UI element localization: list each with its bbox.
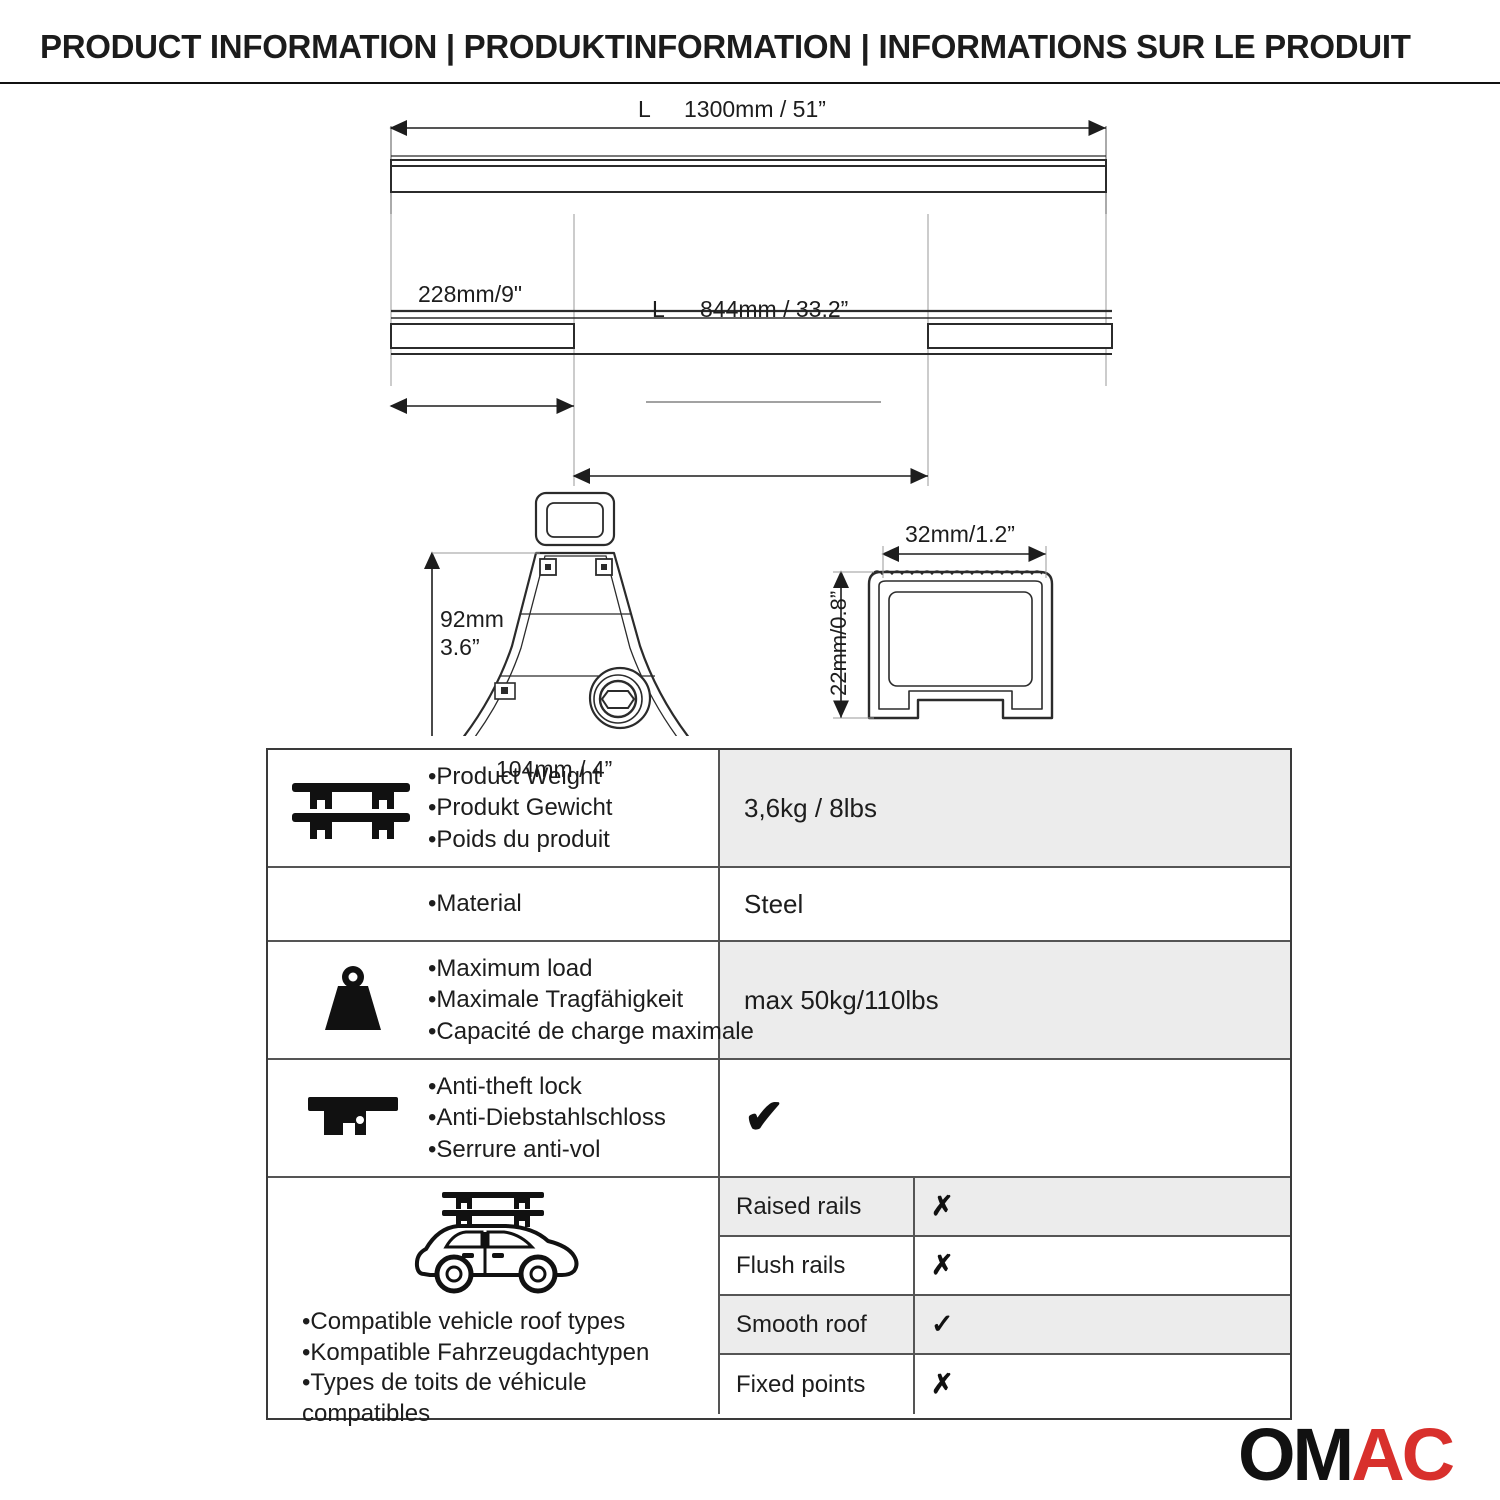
foot-height-mm: 92mm	[440, 606, 504, 633]
spec-label-cell: •Product Weight •Produkt Gewicht •Poids …	[268, 750, 720, 866]
roof-type-name: Flush rails	[720, 1237, 915, 1294]
table-row: •Product Weight •Produkt Gewicht •Poids …	[268, 750, 1290, 868]
spec-label-de: •Anti-Diebstahlschloss	[428, 1102, 666, 1133]
profile-width-dimension: 32mm/1.2”	[905, 521, 1015, 548]
spec-label-texts: •Maximum load •Maximale Tragfähigkeit •C…	[428, 953, 754, 1047]
spec-label-en: •Product Weight	[428, 761, 612, 792]
roof-type-row-raised-rails: Raised rails ✗	[720, 1178, 1290, 1237]
spec-label-texts: •Anti-theft lock •Anti-Diebstahlschloss …	[428, 1071, 666, 1165]
compat-label-fr-cont: compatibles	[302, 1399, 649, 1430]
spec-label-en: •Material	[428, 888, 522, 919]
spec-label-cell: •Material	[268, 868, 720, 940]
roof-type-list: Raised rails ✗ Flush rails ✗ Smooth roof…	[720, 1178, 1290, 1414]
compat-label-de: •Kompatible Fahrzeugdachtypen	[302, 1338, 649, 1369]
table-row: •Material Steel	[268, 868, 1290, 942]
roof-type-name: Raised rails	[720, 1178, 915, 1235]
table-row-compatibility: •Compatible vehicle roof types •Kompatib…	[268, 1178, 1290, 1414]
roof-type-mark: ✗	[915, 1237, 1290, 1294]
omac-logo: OM AC	[1238, 1418, 1452, 1492]
roof-type-row-flush-rails: Flush rails ✗	[720, 1237, 1290, 1296]
page-title: PRODUCT INFORMATION | PRODUKTINFORMATION…	[40, 28, 1411, 66]
spec-label-en: •Anti-theft lock	[428, 1071, 666, 1102]
table-row: •Anti-theft lock •Anti-Diebstahlschloss …	[268, 1060, 1290, 1178]
spec-value-material: Steel	[720, 868, 1290, 940]
roof-type-name: Fixed points	[720, 1355, 915, 1414]
foot-height-in: 3.6”	[440, 634, 480, 661]
drawing-svg	[0, 86, 1500, 736]
span-value: 844mm / 33.2”	[700, 296, 848, 323]
logo-text-black: OM	[1238, 1418, 1351, 1492]
roof-type-mark: ✓	[915, 1296, 1290, 1353]
lock-icon	[278, 1087, 428, 1149]
table-row: •Maximum load •Maximale Tragfähigkeit •C…	[268, 942, 1290, 1060]
spec-label-fr: •Poids du produit	[428, 824, 612, 855]
roof-type-mark: ✗	[915, 1355, 1290, 1414]
span-label: L	[652, 296, 665, 323]
profile-height-dimension: 22mm/0.8”	[826, 591, 852, 696]
roof-type-mark: ✗	[915, 1178, 1290, 1235]
compatibility-label-texts: •Compatible vehicle roof types •Kompatib…	[268, 1307, 649, 1430]
foot-offset-dimension: 228mm/9"	[418, 281, 522, 308]
spec-label-fr: •Serrure anti-vol	[428, 1134, 666, 1165]
compatibility-label-cell: •Compatible vehicle roof types •Kompatib…	[268, 1178, 720, 1414]
spec-value-weight: 3,6kg / 8lbs	[720, 750, 1290, 866]
product-information-sheet: PRODUCT INFORMATION | PRODUKTINFORMATION…	[0, 0, 1500, 1500]
spec-label-fr: •Capacité de charge maximale	[428, 1016, 754, 1047]
weight-icon	[278, 964, 428, 1036]
specification-table: •Product Weight •Produkt Gewicht •Poids …	[266, 748, 1292, 1420]
roof-bars-icon	[278, 773, 428, 843]
spec-label-de: •Produkt Gewicht	[428, 792, 612, 823]
spec-value-anti-theft: ✔	[720, 1060, 1290, 1176]
technical-drawing: L 1300mm / 51”	[0, 86, 1500, 736]
spec-value-max-load: max 50kg/110lbs	[720, 942, 1290, 1058]
compat-label-en: •Compatible vehicle roof types	[302, 1307, 649, 1338]
spec-label-texts: •Product Weight •Produkt Gewicht •Poids …	[428, 761, 612, 855]
header-divider	[0, 82, 1500, 84]
header: PRODUCT INFORMATION | PRODUKTINFORMATION…	[0, 0, 1500, 82]
spec-label-cell: •Anti-theft lock •Anti-Diebstahlschloss …	[268, 1060, 720, 1176]
logo-text-red: AC	[1351, 1418, 1452, 1492]
roof-type-name: Smooth roof	[720, 1296, 915, 1353]
spec-label-de: •Maximale Tragfähigkeit	[428, 984, 754, 1015]
compat-label-fr: •Types de toits de véhicule	[302, 1368, 649, 1399]
spec-label-en: •Maximum load	[428, 953, 754, 984]
spec-label-cell: •Maximum load •Maximale Tragfähigkeit •C…	[268, 942, 720, 1058]
car-with-bars-icon	[398, 1186, 588, 1299]
checkmark-icon: ✔	[744, 1094, 784, 1142]
roof-type-row-fixed-points: Fixed points ✗	[720, 1355, 1290, 1414]
roof-type-row-smooth-roof: Smooth roof ✓	[720, 1296, 1290, 1355]
spec-label-texts: •Material	[428, 888, 522, 919]
